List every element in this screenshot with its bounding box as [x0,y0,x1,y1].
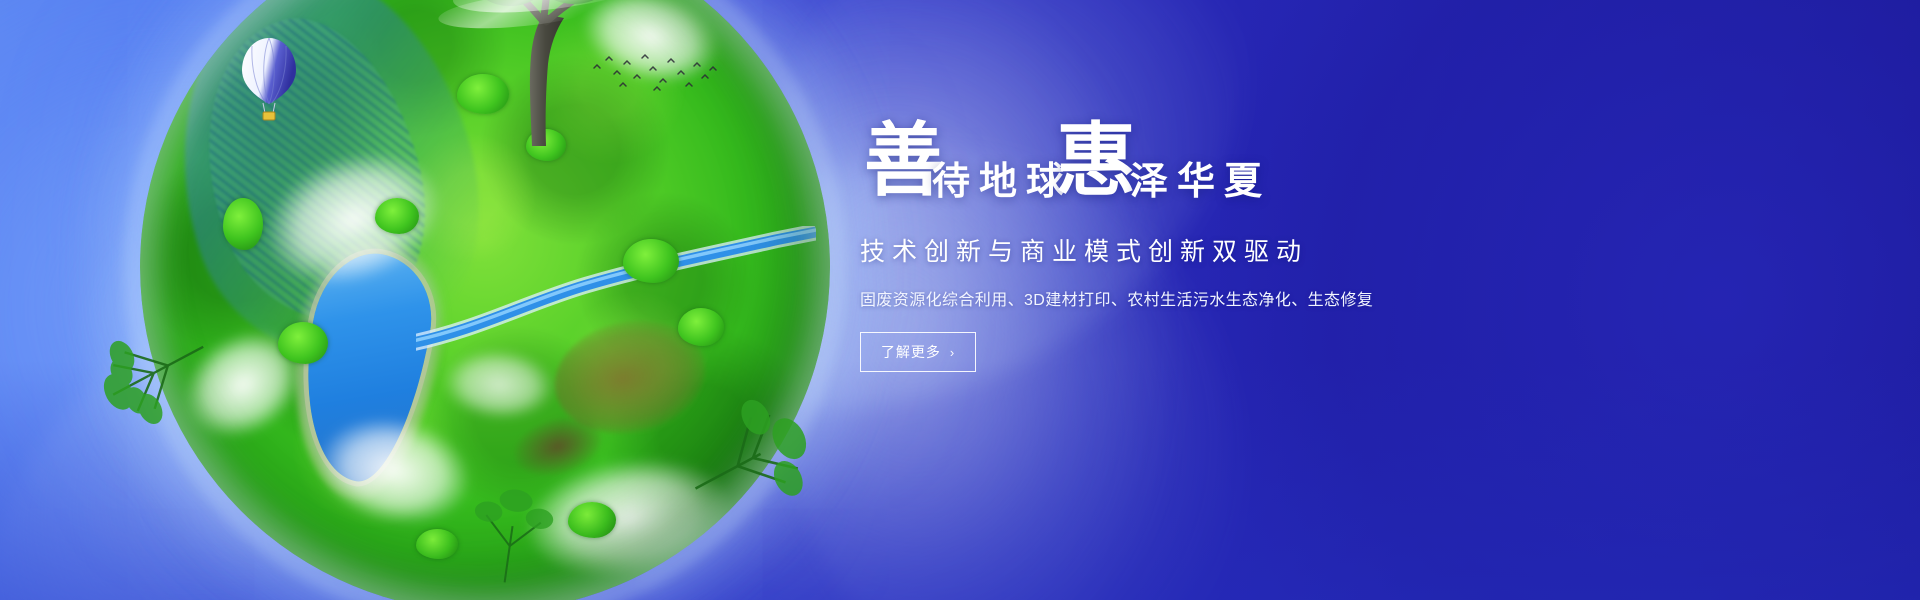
description: 固废资源化综合利用、3D建材打印、农村生活污水生态净化、生态修复 [860,286,1560,310]
hero-banner: 善 待地球 惠 泽华夏 技术创新与商业模式创新双驱动 固废资源化综合利用、3D建… [0,0,1920,600]
chevron-right-icon: › [950,346,955,359]
headline-text-daidiqiu: 待地球 [932,162,1073,200]
headline: 善 待地球 惠 泽华夏 [860,120,1560,216]
hot-air-balloon [238,34,300,124]
learn-more-label: 了解更多 [881,342,941,362]
hero-copy: 善 待地球 惠 泽华夏 技术创新与商业模式创新双驱动 固废资源化综合利用、3D建… [860,120,1560,372]
rim-tree [449,475,573,599]
subtitle: 技术创新与商业模式创新双驱动 [860,232,1560,268]
headline-text-zehuaxia: 泽华夏 [1130,162,1271,200]
learn-more-button[interactable]: 了解更多 › [860,332,976,372]
headline-char-hui: 惠 [1056,120,1136,200]
bird-flock [590,52,720,94]
